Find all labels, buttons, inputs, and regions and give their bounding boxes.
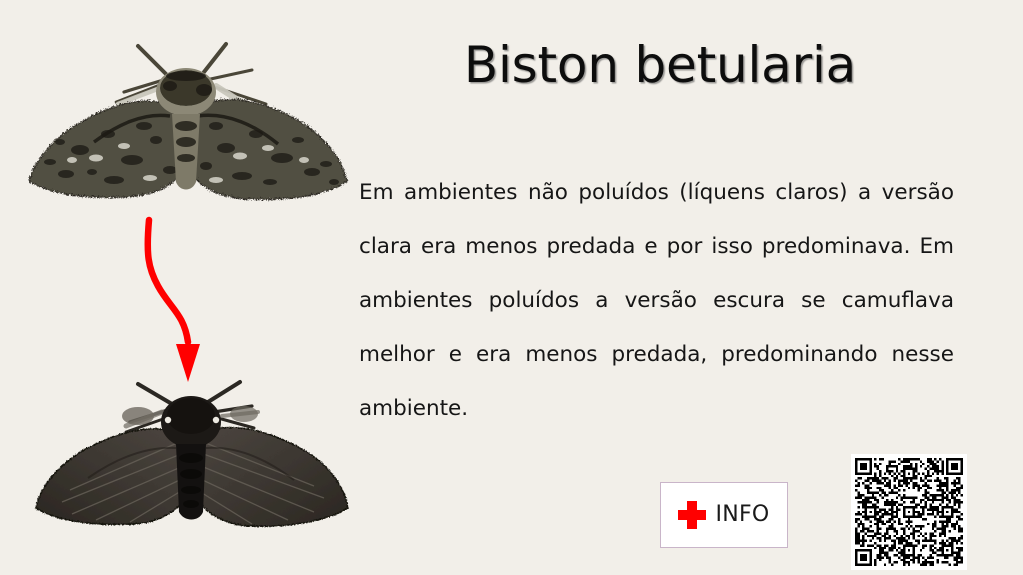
info-button-label: INFO [715, 504, 769, 526]
peppered-moth-dark-form [26, 378, 356, 546]
evolution-arrow [130, 210, 230, 390]
slide-canvas: Biston betularia Em ambientes não poluíd… [0, 0, 1023, 575]
peppered-moth-light-form [20, 30, 350, 220]
qr-code-canvas [855, 458, 963, 566]
body-paragraph: Em ambientes não poluídos (líquens claro… [359, 166, 954, 490]
info-button[interactable]: INFO [660, 482, 788, 548]
page-title: Biston betularia [360, 36, 960, 94]
qr-code[interactable] [851, 454, 967, 570]
red-plus-icon [678, 501, 706, 529]
